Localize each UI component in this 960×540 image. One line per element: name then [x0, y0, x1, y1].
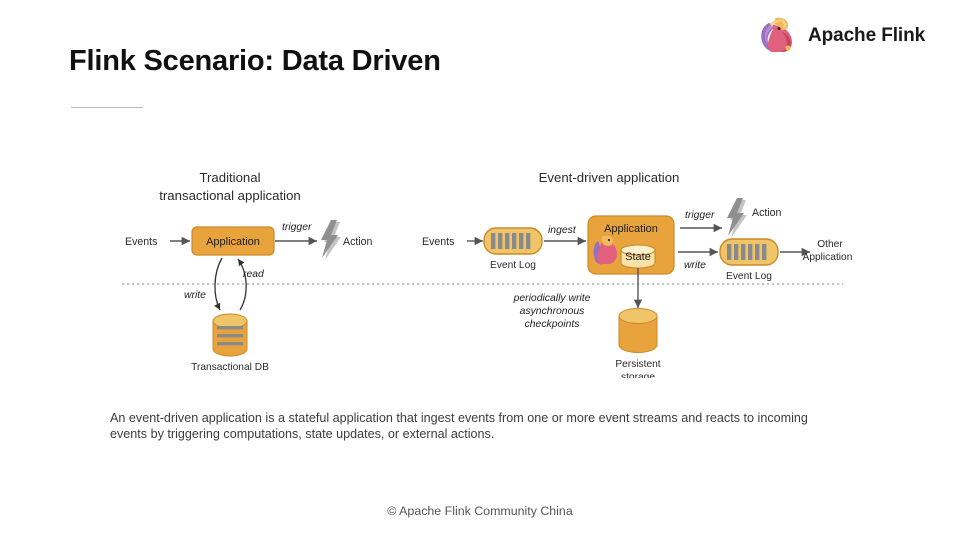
- title-underline-rule: [71, 107, 143, 108]
- ingest-label: ingest: [548, 225, 577, 236]
- persistent-storage-cylinder: [619, 309, 657, 353]
- other-applications-line2: Applications: [803, 252, 852, 263]
- event-log-out: [720, 239, 778, 265]
- checkpoint-line2: asynchronous: [520, 306, 585, 317]
- brand-name: Apache Flink: [808, 25, 925, 47]
- architecture-diagram: Traditional transactional application Ev…: [112, 158, 852, 378]
- persistent-storage-line2: storage: [621, 372, 655, 378]
- action-bolt-icon-left: [321, 220, 341, 260]
- action-bolt-icon-right: [727, 198, 747, 238]
- read-label: read: [243, 269, 265, 280]
- checkpoint-line1: periodically write: [513, 293, 591, 304]
- slide-caption: An event-driven application is a statefu…: [110, 410, 840, 442]
- persistent-storage-line1: Persistent: [615, 359, 660, 370]
- slide-footer: © Apache Flink Community China: [0, 504, 960, 518]
- page-title: Flink Scenario: Data Driven: [69, 45, 441, 78]
- traditional-title-line2: transactional application: [159, 188, 301, 203]
- events-label-right: Events: [422, 236, 454, 248]
- flink-squirrel-icon: [755, 14, 799, 58]
- events-label-left: Events: [125, 236, 157, 248]
- apache-flink-brand: Apache Flink: [755, 14, 925, 58]
- event-log-out-label: Event Log: [726, 271, 772, 282]
- traditional-title-line1: Traditional: [199, 170, 260, 185]
- application-box-right: Application State: [588, 216, 674, 274]
- write-label-right: write: [684, 260, 706, 271]
- transactional-db-cylinder: [213, 314, 247, 356]
- traditional-diagram: Traditional transactional application Ev…: [125, 170, 373, 373]
- trigger-label-right: trigger: [685, 210, 715, 221]
- action-label-left: Action: [343, 236, 373, 248]
- event-log-in-label: Event Log: [490, 260, 536, 271]
- state-store: State: [621, 245, 655, 268]
- application-label-right: Application: [604, 223, 658, 235]
- other-applications-line1: Other: [817, 239, 843, 250]
- action-label-right: Action: [752, 207, 782, 219]
- event-driven-title: Event-driven application: [539, 170, 680, 185]
- application-label-left: Application: [206, 236, 260, 248]
- state-label: State: [625, 251, 651, 263]
- event-log-in: [484, 228, 542, 254]
- transactional-db-label: Transactional DB: [191, 362, 269, 373]
- slide-canvas: Apache Flink Flink Scenario: Data Driven…: [0, 0, 960, 540]
- trigger-label-left: trigger: [282, 222, 312, 233]
- checkpoint-line3: checkpoints: [525, 319, 580, 330]
- write-label: write: [184, 290, 206, 301]
- event-driven-diagram: Event-driven application Events Event Lo…: [422, 170, 852, 378]
